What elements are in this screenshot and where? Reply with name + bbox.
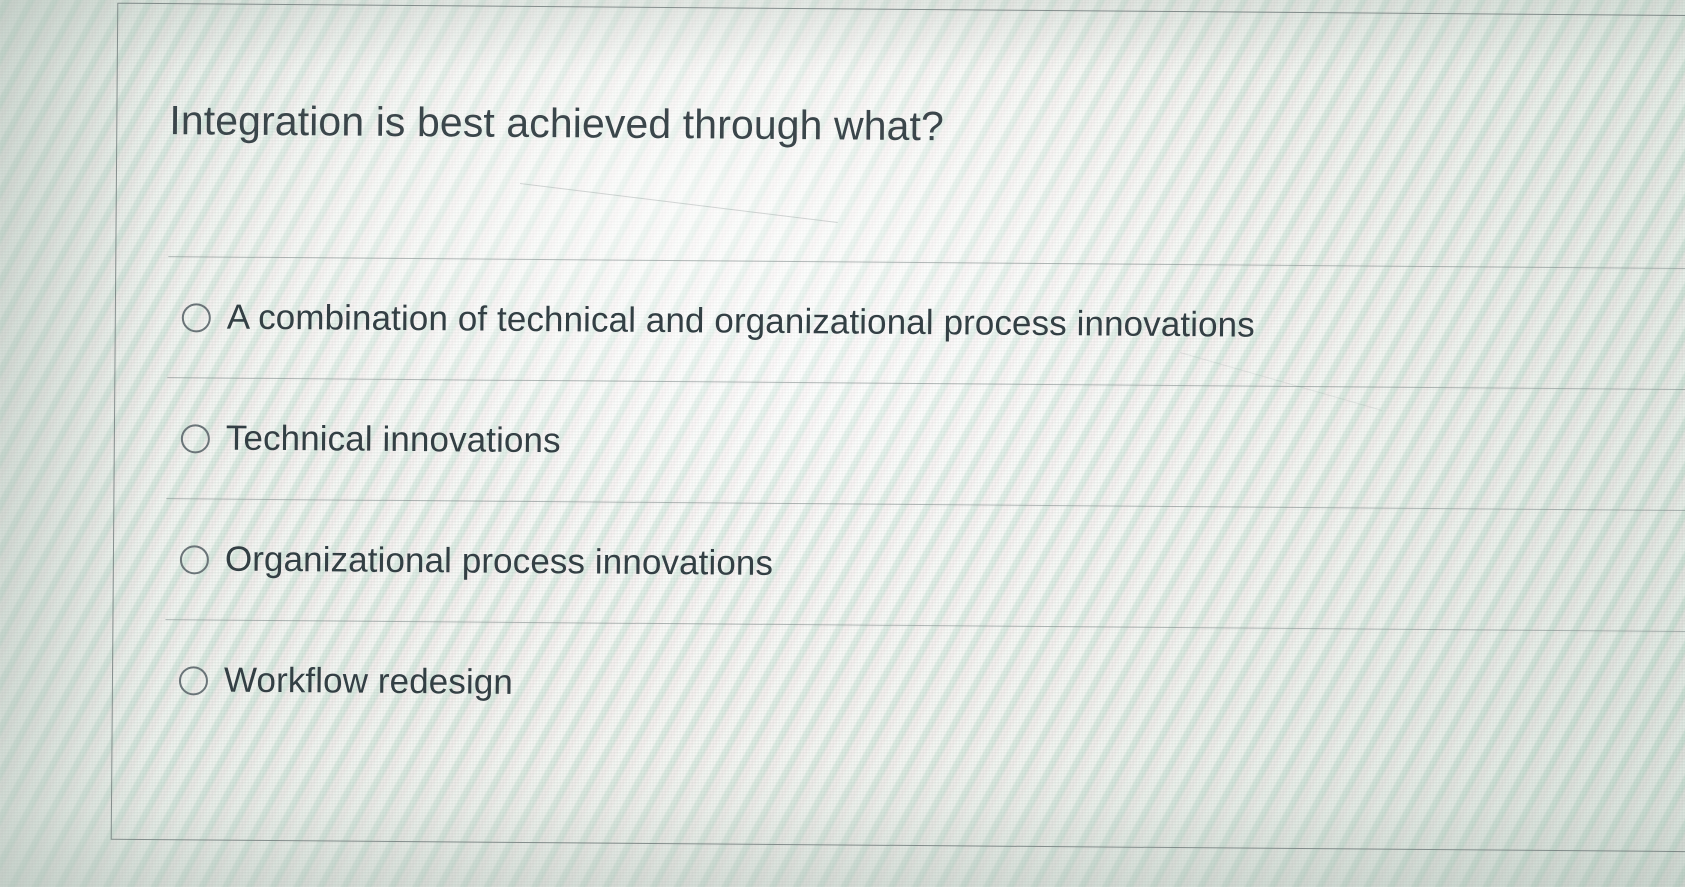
answer-option-b-label: Technical innovations: [226, 418, 561, 461]
answer-option-b[interactable]: Technical innovations: [166, 377, 1685, 510]
answer-option-d-label: Workflow redesign: [224, 660, 513, 703]
question-text: Integration is best achieved through wha…: [169, 96, 1685, 157]
quiz-screenshot: Integration is best achieved through wha…: [0, 0, 1685, 887]
answer-options-list: A combination of technical and organizat…: [165, 256, 1685, 752]
radio-unselected-icon[interactable]: [179, 666, 208, 695]
question-block: Integration is best achieved through wha…: [169, 96, 1685, 157]
question-card: Integration is best achieved through wha…: [111, 3, 1685, 853]
answer-option-c-label: Organizational process innovations: [225, 539, 773, 584]
answer-option-c[interactable]: Organizational process innovations: [165, 498, 1685, 631]
answer-option-a[interactable]: A combination of technical and organizat…: [167, 256, 1685, 389]
answer-option-a-label: A combination of technical and organizat…: [227, 297, 1255, 345]
radio-unselected-icon[interactable]: [181, 424, 210, 453]
radio-unselected-icon[interactable]: [180, 545, 209, 574]
radio-unselected-icon[interactable]: [182, 303, 211, 332]
answer-option-d[interactable]: Workflow redesign: [165, 619, 1685, 752]
